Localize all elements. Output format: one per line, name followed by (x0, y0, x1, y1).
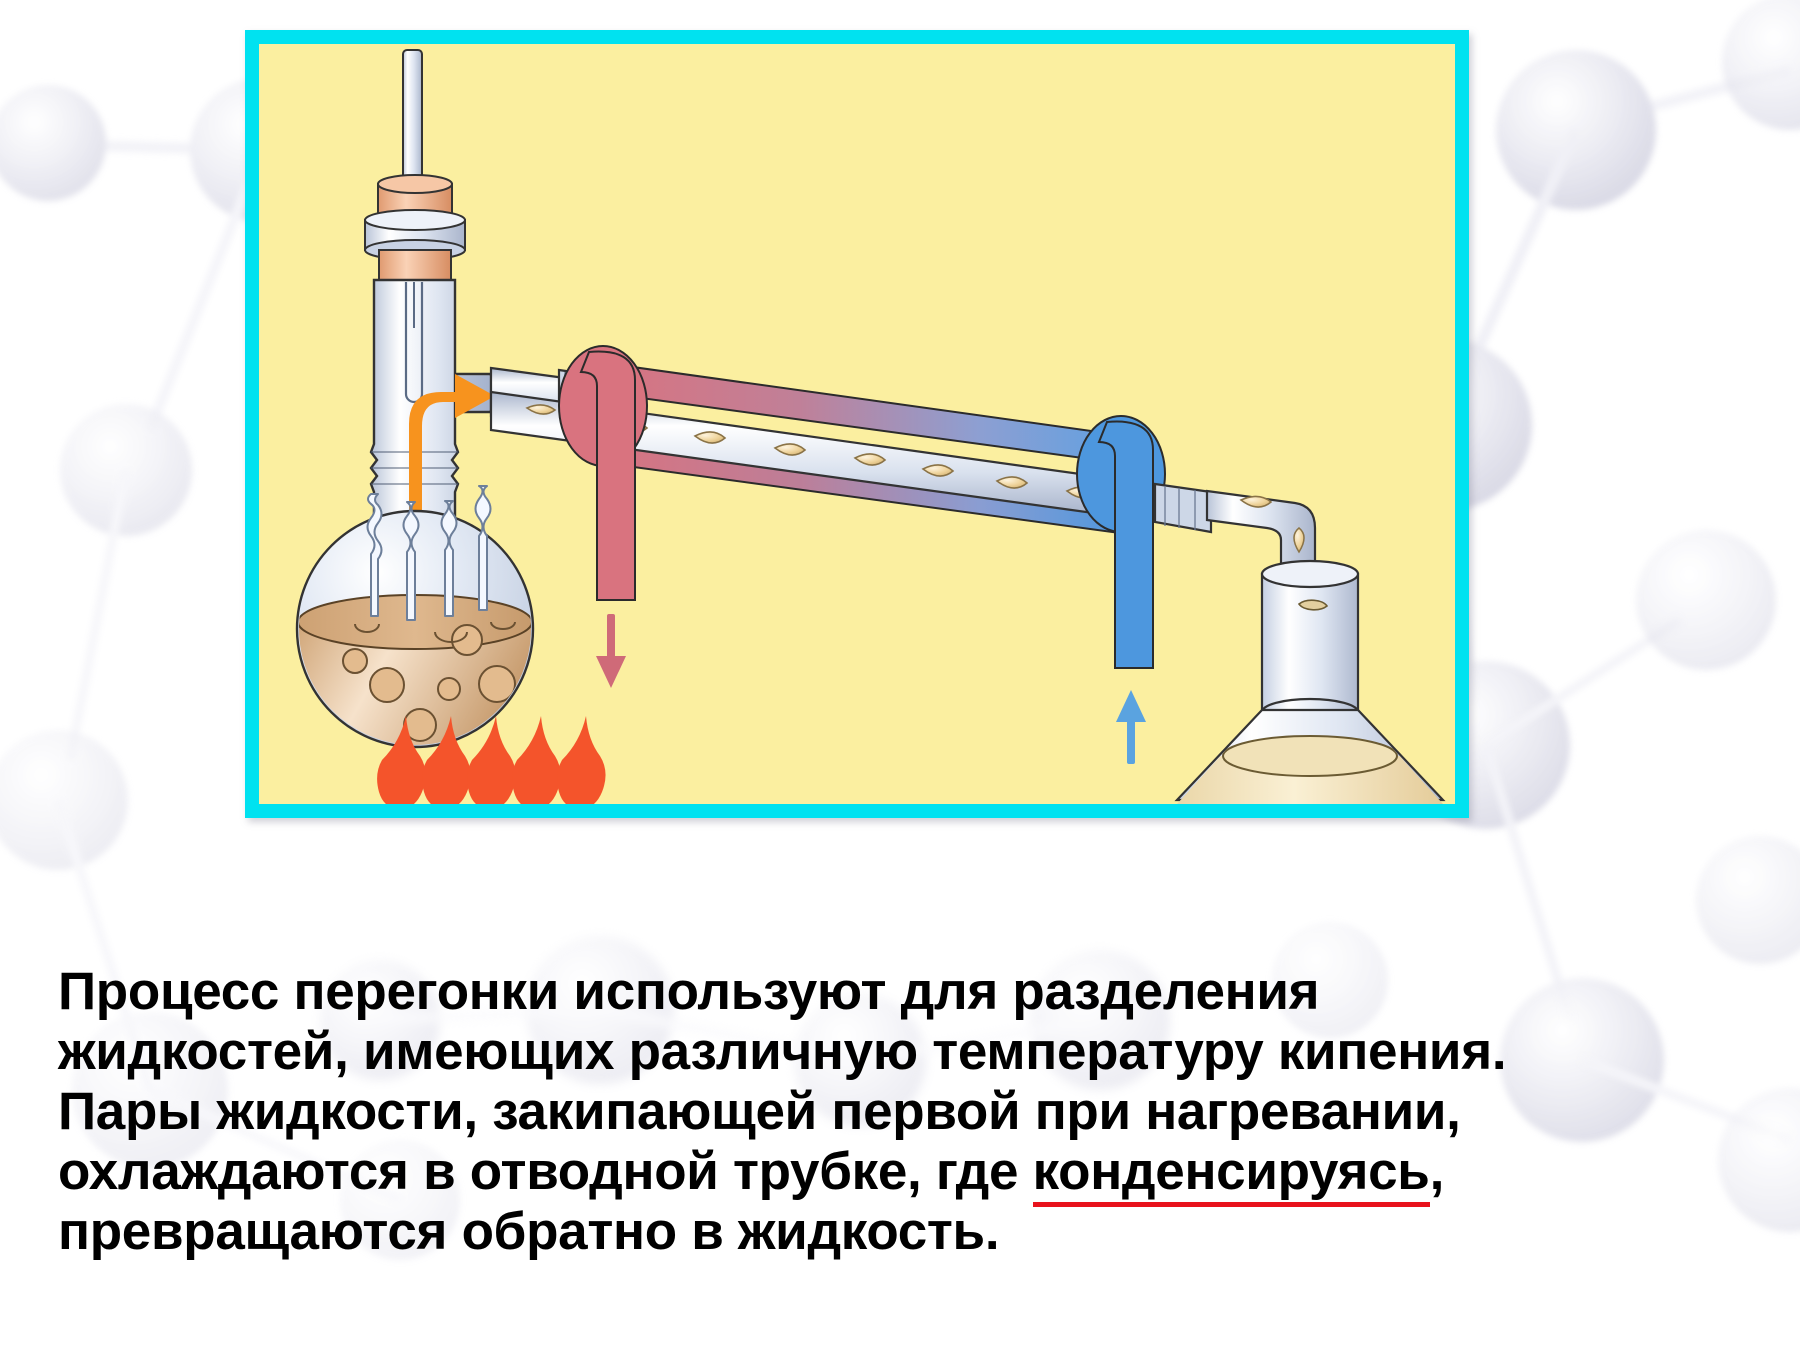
distilling-flask-body (295, 486, 535, 752)
caption-highlight-term: конденсируясь (1033, 1142, 1430, 1207)
illustration-frame (245, 30, 1469, 818)
condenser-joint-right (1155, 484, 1211, 532)
thermometer-icon (403, 50, 422, 188)
caption-line-5: превращаются обратно в жидкость. (58, 1202, 1758, 1262)
distillation-apparatus-diagram (259, 44, 1455, 804)
caption-line-1: Процесс перегонки используют для разделе… (58, 962, 1758, 1022)
cold-water-in-arrow-icon (1116, 690, 1146, 764)
cold-water-inlet (1077, 416, 1165, 668)
receiving-flask (1159, 561, 1455, 804)
caption-line-2: жидкостей, имеющих различную температуру… (58, 1022, 1758, 1082)
warm-water-out-arrow-icon (596, 614, 626, 688)
caption-line-4-suffix: , (1430, 1142, 1444, 1201)
caption-line-3: Пары жидкости, закипающей первой при наг… (58, 1082, 1758, 1142)
caption-block: Процесс перегонки используют для разделе… (58, 962, 1758, 1262)
caption-line-4: охлаждаются в отводной трубке, где конде… (58, 1142, 1758, 1202)
hot-water-outlet (559, 346, 647, 600)
caption-line-4-prefix: охлаждаются в отводной трубке, где (58, 1142, 1033, 1201)
rubber-stopper-icon (365, 175, 465, 284)
